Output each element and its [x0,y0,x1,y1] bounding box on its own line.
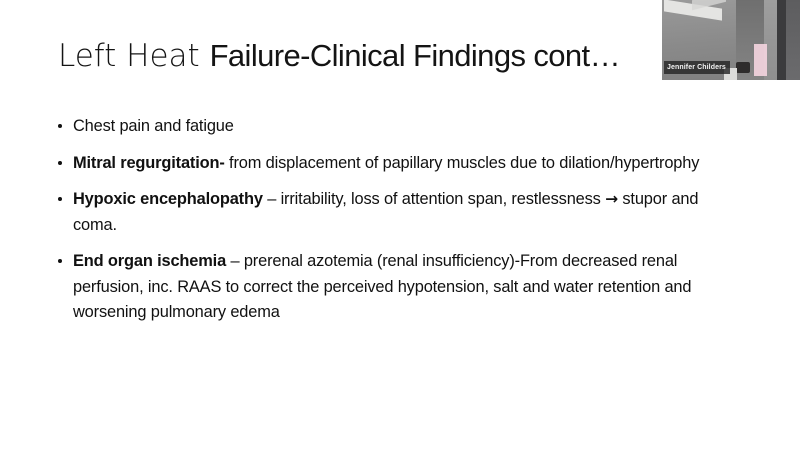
list-item: Mitral regurgitation- from displacement … [56,151,736,177]
bullet-dot-icon [58,124,62,128]
presenter-webcam-overlay[interactable]: Jennifer Childers [662,0,800,80]
bullet-dot-icon [58,161,62,165]
list-item: Chest pain and fatigue [56,114,736,140]
bullet-text: Chest pain and fatigue [73,117,234,135]
bullet-text: from displacement of papillary muscles d… [225,154,700,172]
list-item: Hypoxic encephalopathy – irritability, l… [56,187,736,238]
right-arrow-icon: → [605,190,618,208]
webcam-dark-edge [777,0,786,80]
bullet-dot-icon [58,259,62,263]
webcam-right-panel [786,0,800,80]
bullet-dot-icon [58,197,62,201]
slide-title: Left Heat Failure-Clinical Findings cont… [58,36,658,76]
bullet-lead-term: End organ ischemia [73,252,226,270]
bullet-lead-term: Hypoxic encephalopathy [73,190,263,208]
webcam-dark-object [736,62,750,73]
bullet-lead-term: Mitral regurgitation- [73,154,225,172]
bullet-text: – irritability, loss of attention span, … [263,190,605,208]
participant-name-label: Jennifer Childers [664,61,730,74]
presentation-slide: Left Heat Failure-Clinical Findings cont… [0,0,800,450]
list-item: End organ ischemia – prerenal azotemia (… [56,249,736,326]
slide-body-bullet-list: Chest pain and fatigue Mitral regurgitat… [56,114,736,326]
slide-title-strong-part: Failure-Clinical Findings cont… [210,38,620,73]
webcam-pink-object [754,44,767,76]
slide-title-light-part: Left Heat [58,38,210,74]
